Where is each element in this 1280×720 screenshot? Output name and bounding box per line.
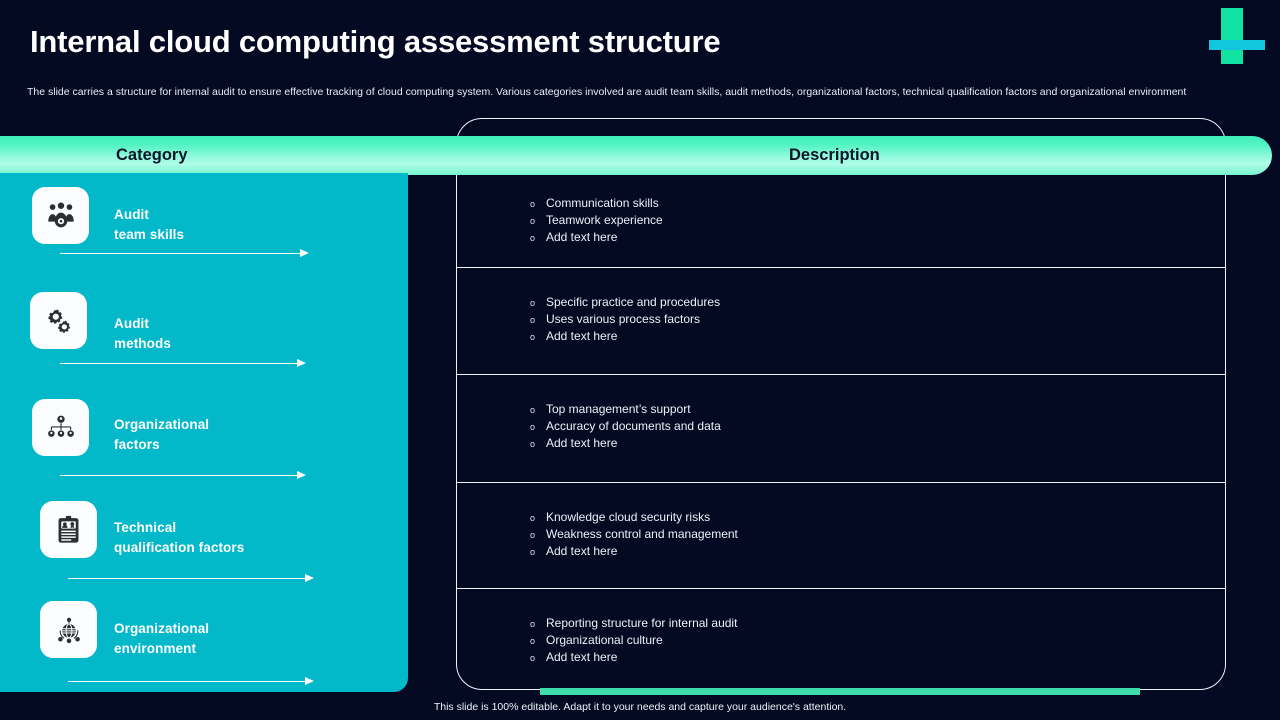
description-rows: oCommunication skills oTeamwork experien…: [456, 176, 1226, 690]
list-item: oAccuracy of documents and data: [530, 418, 1170, 435]
list-item: oReporting structure for internal audit: [530, 615, 1170, 632]
category-label: Organizational environment: [114, 619, 209, 658]
list-item: oUses various process factors: [530, 311, 1170, 328]
list-item-text: Uses various process factors: [546, 311, 700, 327]
list-item-text: Communication skills: [546, 195, 659, 211]
list-item: oCommunication skills: [530, 195, 1170, 212]
bullet-marker-icon: o: [530, 616, 546, 632]
list-item: oKnowledge cloud security risks: [530, 509, 1170, 526]
category-arrow-icon: [60, 359, 306, 368]
list-item-text: Teamwork experience: [546, 212, 663, 228]
category-label: Audit team skills: [114, 205, 184, 244]
bullet-marker-icon: o: [530, 196, 546, 212]
column-header-description: Description: [789, 136, 880, 175]
bullet-marker-icon: o: [530, 436, 546, 452]
table-row: oSpecific practice and procedures oUses …: [456, 267, 1226, 374]
slide-canvas: Internal cloud computing assessment stru…: [0, 0, 1280, 720]
bullet-list: oKnowledge cloud security risks oWeaknes…: [530, 509, 1170, 560]
bullet-marker-icon: o: [530, 650, 546, 666]
bullet-list: oReporting structure for internal audit …: [530, 615, 1170, 666]
bullet-list: oTop management’s support oAccuracy of d…: [530, 401, 1170, 452]
list-item-text: Add text here: [546, 229, 617, 245]
bullet-marker-icon: o: [530, 312, 546, 328]
list-item-text: Top management’s support: [546, 401, 691, 417]
bullet-marker-icon: o: [530, 402, 546, 418]
page-title: Internal cloud computing assessment stru…: [30, 25, 1150, 60]
list-item: oAdd text here: [530, 328, 1170, 345]
bullet-marker-icon: o: [530, 295, 546, 311]
category-sidebar: Audit team skills Audit methods: [0, 173, 408, 692]
list-item: oTeamwork experience: [530, 212, 1170, 229]
bullet-marker-icon: o: [530, 527, 546, 543]
bullet-marker-icon: o: [530, 213, 546, 229]
list-item-text: Weakness control and management: [546, 526, 738, 542]
list-item: oAdd text here: [530, 435, 1170, 452]
list-item-text: Add text here: [546, 328, 617, 344]
footer-note: This slide is 100% editable. Adapt it to…: [0, 701, 1280, 713]
category-label: Audit methods: [114, 314, 171, 353]
bullet-marker-icon: o: [530, 544, 546, 560]
table-row: oKnowledge cloud security risks oWeaknes…: [456, 482, 1226, 588]
category-item-technical-qualification-factors[interactable]: Technical qualification factors: [0, 501, 408, 601]
category-item-audit-methods[interactable]: Audit methods: [0, 292, 408, 392]
column-header-category: Category: [116, 136, 188, 175]
logo-vertical-bar-icon: [1221, 8, 1243, 64]
list-item-text: Specific practice and procedures: [546, 294, 720, 310]
table-header-band: Category Description: [0, 136, 1272, 175]
team-gear-icon: [32, 187, 89, 244]
category-item-organizational-factors[interactable]: Organizational factors: [0, 399, 408, 499]
list-item-text: Accuracy of documents and data: [546, 418, 721, 434]
list-item-text: Add text here: [546, 435, 617, 451]
bullet-marker-icon: o: [530, 510, 546, 526]
clipboard-certificate-icon: [40, 501, 97, 558]
list-item-text: Knowledge cloud security risks: [546, 509, 710, 525]
org-chart-icon: [32, 399, 89, 456]
category-arrow-icon: [68, 574, 314, 583]
category-arrow-icon: [60, 471, 306, 480]
bullet-list: oCommunication skills oTeamwork experien…: [530, 195, 1170, 246]
list-item: oAdd text here: [530, 649, 1170, 666]
list-item: oAdd text here: [530, 229, 1170, 246]
list-item-text: Reporting structure for internal audit: [546, 615, 737, 631]
category-arrow-icon: [68, 677, 314, 686]
bottom-accent-bar: [540, 688, 1140, 695]
bullet-marker-icon: o: [530, 329, 546, 345]
list-item-text: Add text here: [546, 649, 617, 665]
table-row: oReporting structure for internal audit …: [456, 588, 1226, 690]
bullet-marker-icon: o: [530, 633, 546, 649]
table-row: oCommunication skills oTeamwork experien…: [456, 176, 1226, 267]
bullet-list: oSpecific practice and procedures oUses …: [530, 294, 1170, 345]
globe-network-icon: [40, 601, 97, 658]
category-item-organizational-environment[interactable]: Organizational environment: [0, 601, 408, 701]
list-item: oSpecific practice and procedures: [530, 294, 1170, 311]
list-item: oWeakness control and management: [530, 526, 1170, 543]
bullet-marker-icon: o: [530, 419, 546, 435]
list-item: oAdd text here: [530, 543, 1170, 560]
bullet-marker-icon: o: [530, 230, 546, 246]
table-row: oTop management’s support oAccuracy of d…: [456, 374, 1226, 482]
list-item: oTop management’s support: [530, 401, 1170, 418]
logo-horizontal-bar-icon: [1209, 40, 1265, 50]
page-subtitle: The slide carries a structure for intern…: [27, 85, 1217, 100]
gears-icon: [30, 292, 87, 349]
list-item-text: Add text here: [546, 543, 617, 559]
category-arrow-icon: [60, 249, 309, 258]
category-label: Organizational factors: [114, 415, 209, 454]
list-item: oOrganizational culture: [530, 632, 1170, 649]
brand-logo-mark: [1203, 0, 1275, 72]
category-label: Technical qualification factors: [114, 518, 244, 557]
list-item-text: Organizational culture: [546, 632, 663, 648]
category-item-audit-team-skills[interactable]: Audit team skills: [0, 187, 408, 287]
